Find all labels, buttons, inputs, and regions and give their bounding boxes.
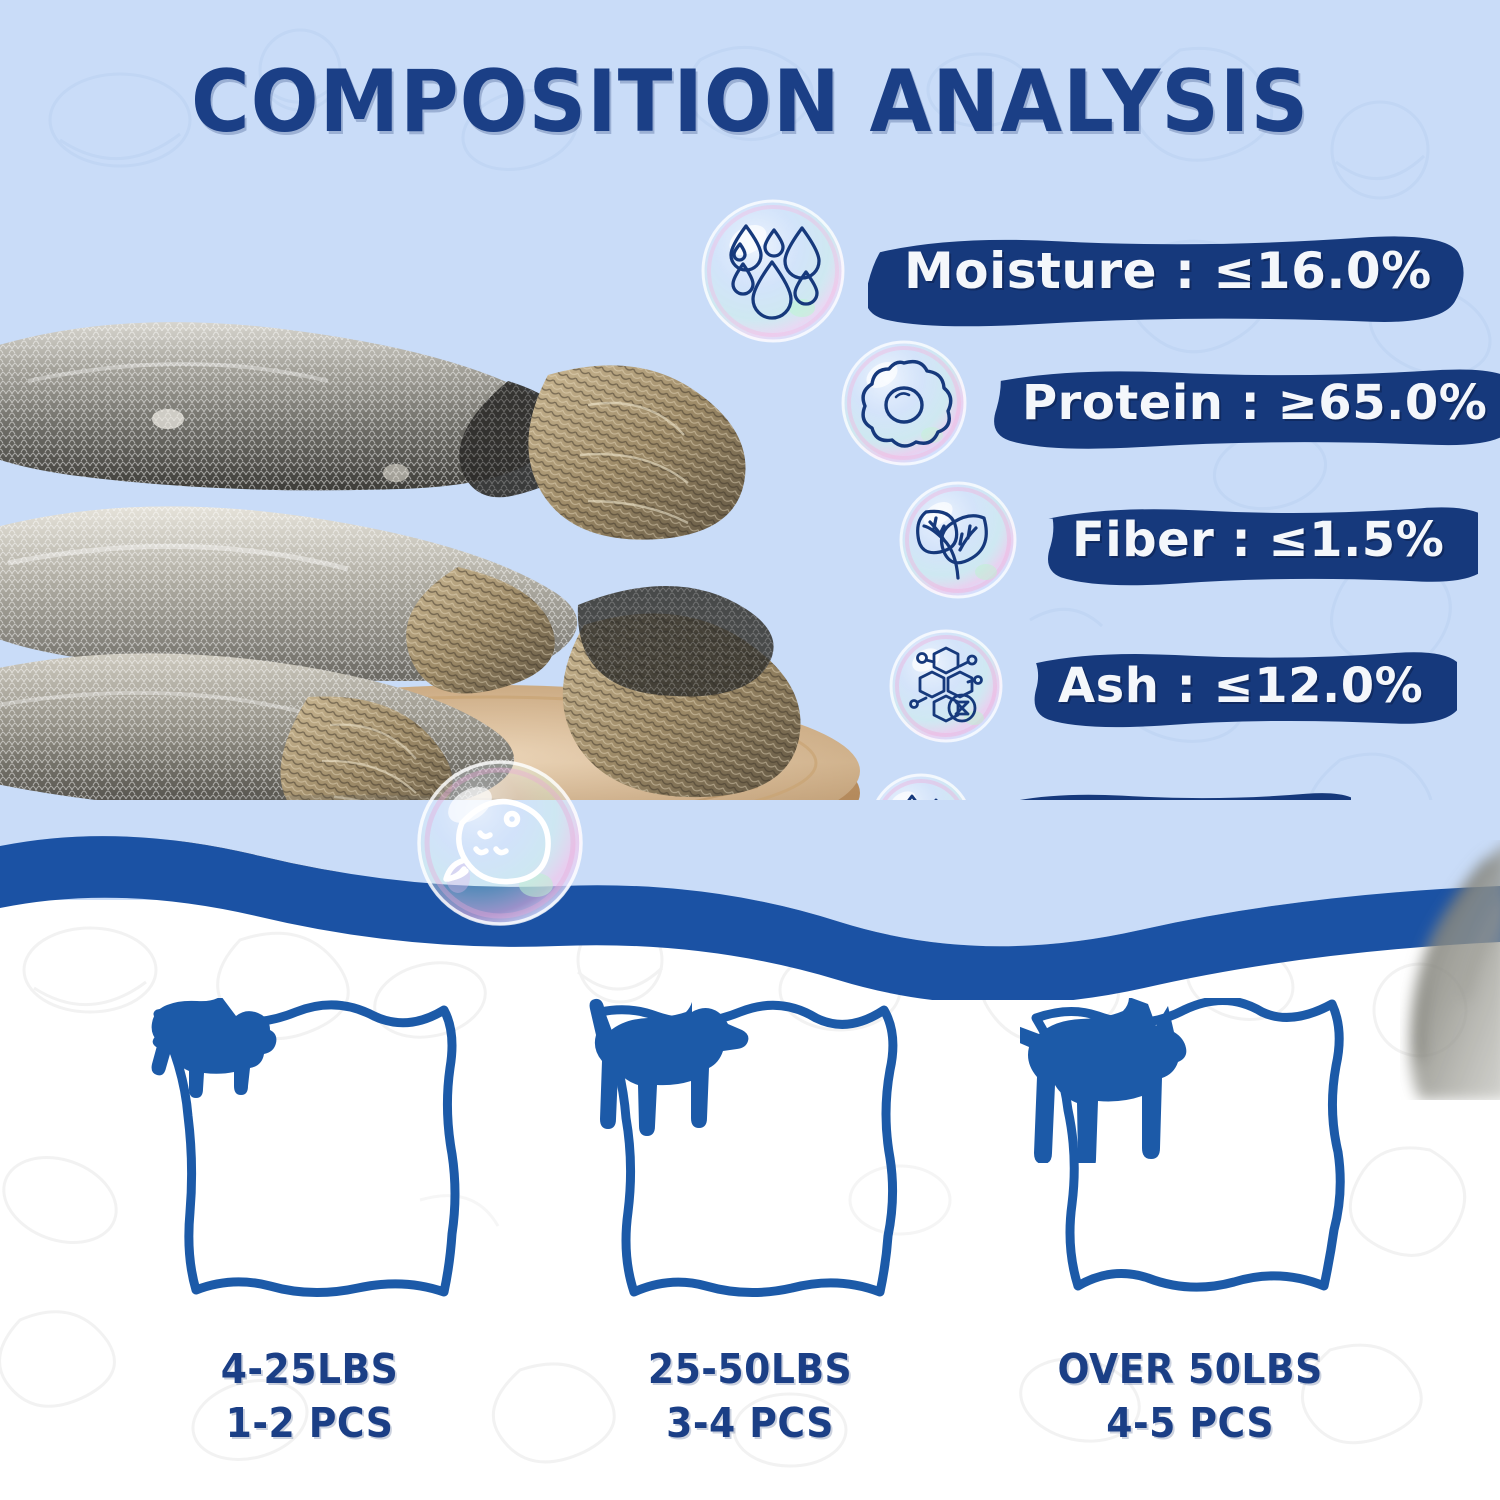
large-dog-frame [1020,998,1360,1308]
feeding-size-medium: 25-50LBS 3-4 PCS [530,998,970,1450]
moisture-badge: Moisture : ≤16.0% [868,233,1468,309]
fish-bubble [414,757,586,929]
ash-label: Ash : ≤12.0% [1058,658,1423,714]
ash-badge: Ash : ≤12.0% [1024,649,1457,723]
fiber-bubble [896,478,1020,602]
fiber-label: Fiber : ≤1.5% [1072,512,1444,568]
moisture-label: Moisture : ≤16.0% [904,242,1432,300]
small-dog-size-label: 4-25LBS 1-2 PCS [221,1342,399,1450]
wave-divider [0,800,1500,1000]
large-dog-size-label: OVER 50LBS 4-5 PCS [1057,1342,1322,1450]
small-dog-icon [140,998,290,1108]
composition-row-fiber: Fiber : ≤1.5% [896,478,1478,602]
feeding-size-small: 4-25LBS 1-2 PCS [90,998,530,1450]
protein-label: Protein : ≥65.0% [1022,375,1487,431]
feeding-size-grid: 4-25LBS 1-2 PCS 25-50LBS [0,998,1500,1450]
composition-row-protein: Protein : ≥65.0% [838,337,1500,469]
composition-row-ash: Ash : ≤12.0% [886,626,1457,746]
small-dog-frame [140,998,480,1308]
composition-row-moisture: Moisture : ≤16.0% [698,196,1468,346]
medium-dog-pieces: 3-4 PCS [648,1396,852,1450]
small-dog-weight: 4-25LBS [221,1342,399,1396]
medium-dog-frame [580,998,920,1308]
large-dog-pieces: 4-5 PCS [1057,1396,1322,1450]
infographic-canvas: COMPOSITION ANALYSIS [0,0,1500,1500]
composition-badge-list: Moisture : ≤16.0% [0,0,1500,900]
medium-dog-size-label: 25-50LBS 3-4 PCS [648,1342,852,1450]
large-dog-weight: OVER 50LBS [1057,1342,1322,1396]
protein-badge: Protein : ≥65.0% [988,366,1500,440]
protein-bubble [838,337,970,469]
large-dog-icon [1020,998,1230,1163]
composition-section: COMPOSITION ANALYSIS [0,0,1500,900]
fiber-badge: Fiber : ≤1.5% [1038,504,1478,576]
pet-fur-decoration [1340,840,1500,1100]
moisture-bubble [698,196,848,346]
medium-dog-icon [580,998,760,1148]
medium-dog-weight: 25-50LBS [648,1342,852,1396]
small-dog-pieces: 1-2 PCS [221,1396,399,1450]
ash-bubble [886,626,1006,746]
